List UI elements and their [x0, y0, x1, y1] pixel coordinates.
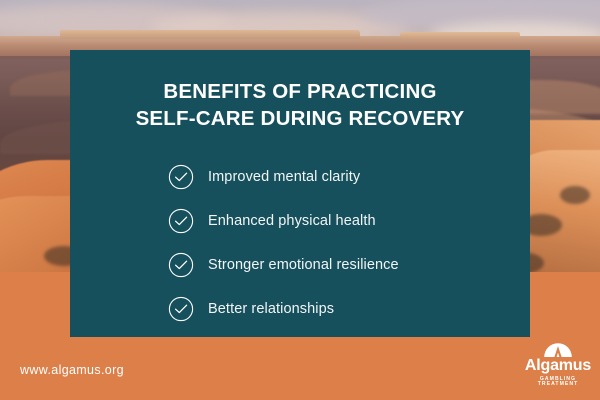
check-circle-icon	[168, 252, 194, 278]
check-circle-icon	[168, 296, 194, 322]
mesa-plateau	[60, 30, 360, 39]
cloud-shape	[360, 0, 600, 34]
page-title-line-1: Benefits of Practicing	[100, 78, 500, 105]
list-item-label: Improved mental clarity	[208, 170, 360, 185]
page-title-line-2: Self-Care During Recovery	[100, 105, 500, 132]
mesa-plateau	[400, 32, 520, 40]
logo-wordmark: Algamus	[522, 358, 594, 374]
logo-tagline: GAMBLING TREATMENT	[522, 377, 594, 387]
list-item: Better relationships	[70, 287, 530, 331]
list-item: Stronger emotional resilience	[70, 243, 530, 287]
shrub-shape	[560, 186, 590, 204]
arch-mountain-icon	[522, 338, 594, 357]
list-item: Improved mental clarity	[70, 155, 530, 199]
list-item-label: Stronger emotional resilience	[208, 258, 399, 273]
list-item: Enhanced physical health	[70, 199, 530, 243]
content-panel: Benefits of Practicing Self-Care During …	[70, 50, 530, 337]
website-url[interactable]: www.algamus.org	[20, 363, 124, 377]
page-title: Benefits of Practicing Self-Care During …	[70, 50, 530, 133]
check-circle-icon	[168, 208, 194, 234]
benefits-list: Improved mental clarity Enhanced physica…	[70, 133, 530, 331]
list-item-label: Better relationships	[208, 302, 334, 317]
brand-logo[interactable]: Algamus GAMBLING TREATMENT	[522, 338, 594, 390]
check-circle-icon	[168, 164, 194, 190]
slide-canvas: Benefits of Practicing Self-Care During …	[0, 0, 600, 400]
list-item-label: Enhanced physical health	[208, 214, 376, 229]
